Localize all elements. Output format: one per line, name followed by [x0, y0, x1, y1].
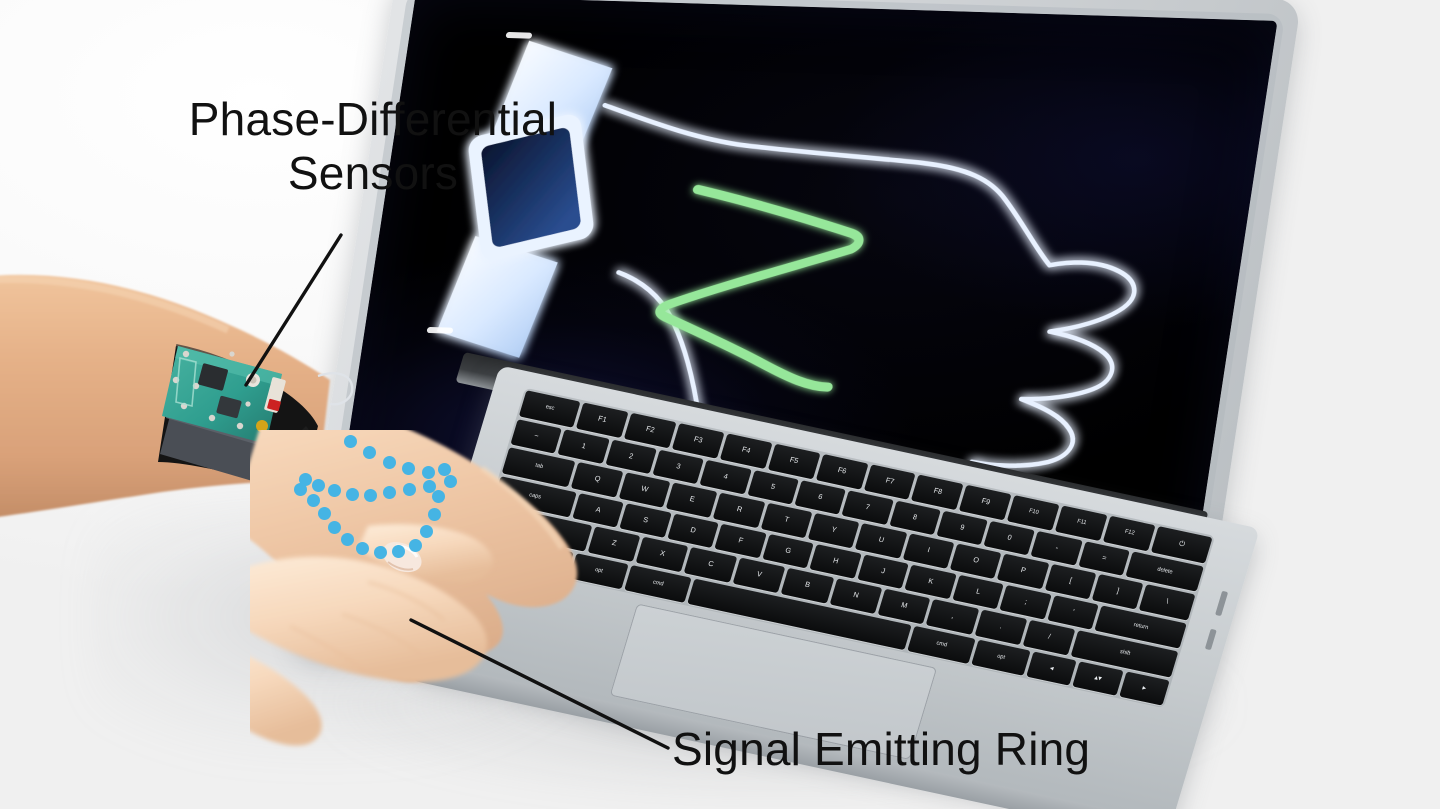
sensors-callout: Phase-Differential Sensors — [138, 92, 608, 201]
trajectory-dot — [356, 542, 369, 555]
trajectory-dot — [344, 435, 357, 448]
trajectory-dot — [312, 479, 325, 492]
port-usb — [1215, 591, 1228, 616]
gesture-stroke-path — [649, 189, 866, 388]
sensors-callout-line2: Sensors — [138, 146, 608, 200]
trajectory-dot — [383, 486, 396, 499]
key--[interactable]: ▸ — [1119, 671, 1170, 706]
port-hdmi — [1205, 629, 1217, 650]
key--[interactable]: ▴▾ — [1072, 661, 1123, 696]
trajectory-dot — [328, 484, 341, 497]
trajectory-dot — [420, 525, 433, 538]
trajectory-dot — [432, 490, 445, 503]
sensors-callout-line1: Phase-Differential — [138, 92, 608, 146]
trajectory-dot — [341, 533, 354, 546]
trajectory-dot — [318, 507, 331, 520]
trajectory-dot — [409, 539, 422, 552]
trajectory-dot — [374, 546, 387, 559]
trajectory-dot — [403, 483, 416, 496]
trajectory-dot — [428, 508, 441, 521]
trajectory-dot — [307, 494, 320, 507]
trajectory-dot — [346, 488, 359, 501]
trajectory-dot — [294, 483, 307, 496]
trajectory-dot — [402, 462, 415, 475]
trajectory-dot — [364, 489, 377, 502]
trajectory-dot — [422, 466, 435, 479]
trajectory-dot — [438, 463, 451, 476]
trajectory-dot — [328, 521, 341, 534]
key--[interactable]: ◂ — [1026, 651, 1077, 686]
screenshot-root: escF1F2F3F4F5F6F7F8F9F10F11F12⏻~12345678… — [0, 0, 1440, 809]
trajectory-dot — [392, 545, 405, 558]
trajectory-dot — [444, 475, 457, 488]
trajectory-dot — [383, 456, 396, 469]
ring-callout: Signal Emitting Ring — [672, 726, 1090, 772]
trajectory-dot — [363, 446, 376, 459]
